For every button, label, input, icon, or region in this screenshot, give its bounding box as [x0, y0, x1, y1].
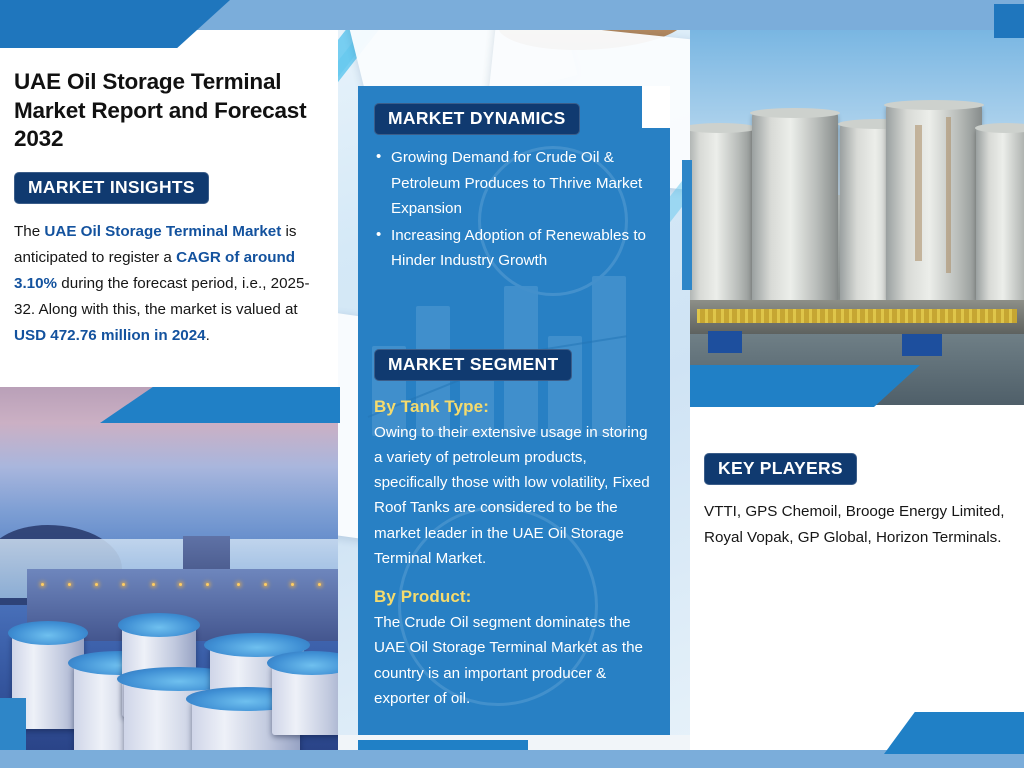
photo-rust-streak [946, 117, 951, 273]
key-players-text: VTTI, GPS Chemoil, Brooge Energy Limited… [704, 499, 1010, 551]
insight-highlight-3: USD 472.76 million in 2024 [14, 327, 206, 344]
market-segment-badge: MARKET SEGMENT [374, 349, 572, 381]
panel-content: MARKET DYNAMICS Growing Demand for Crude… [358, 103, 670, 711]
market-insights-badge: MARKET INSIGHTS [14, 172, 209, 204]
panel-corner-notch [642, 86, 670, 128]
segment-body: The Crude Oil segment dominates the UAE … [374, 610, 654, 711]
top-right-accent-square [994, 4, 1024, 38]
photo-container [902, 334, 942, 356]
insight-highlight-1: UAE Oil Storage Terminal Market [44, 223, 281, 240]
photo-tank [886, 105, 982, 300]
bottom-left-accent-square [0, 698, 26, 750]
infographic-stage: KEY PLAYERS VTTI, GPS Chemoil, Brooge En… [0, 0, 1024, 768]
market-insights-badge-wrap: MARKET INSIGHTS [14, 172, 324, 204]
bottom-accent-band [0, 750, 1024, 768]
segment-body: Owing to their extensive usage in storin… [374, 420, 654, 571]
segment-group-tank-type: By Tank Type: Owing to their extensive u… [374, 397, 654, 571]
market-dynamics-bullet: Growing Demand for Crude Oil & Petroleum… [374, 145, 654, 222]
panel-spacer [374, 275, 654, 349]
insight-part-4: . [206, 327, 210, 344]
market-segment-badge-wrap: MARKET SEGMENT [374, 349, 654, 381]
photo-tank [690, 128, 756, 301]
market-dynamics-list: Growing Demand for Crude Oil & Petroleum… [374, 145, 654, 274]
photo-tank [752, 113, 838, 301]
right-accent-tab [682, 160, 692, 290]
photo-railing [697, 309, 1018, 323]
key-players-badge: KEY PLAYERS [704, 453, 857, 485]
photo-tank [976, 128, 1024, 301]
photo-city-lights [0, 583, 338, 612]
market-insights-text: The UAE Oil Storage Terminal Market is a… [14, 219, 324, 350]
insight-part-3: during the forecast period, i.e., 2025-3… [14, 275, 310, 318]
key-players-badge-wrap: KEY PLAYERS [704, 453, 1010, 485]
photo-tank [272, 663, 338, 735]
key-players-card: KEY PLAYERS VTTI, GPS Chemoil, Brooge En… [690, 405, 1024, 750]
segment-heading: By Product: [374, 587, 654, 607]
segment-heading: By Tank Type: [374, 397, 654, 417]
photo-container [708, 331, 742, 353]
left-photo-terminal-twilight [0, 387, 338, 750]
market-dynamics-bullet: Increasing Adoption of Renewables to Hin… [374, 223, 654, 274]
photo-rust-streak [915, 125, 922, 262]
right-photo-tank-farm [690, 30, 1024, 405]
market-insights-card: UAE Oil Storage Terminal Market Report a… [0, 30, 338, 387]
segment-group-product: By Product: The Crude Oil segment domina… [374, 587, 654, 711]
market-dynamics-badge-wrap: MARKET DYNAMICS [374, 103, 654, 135]
insight-part-1: The [14, 223, 44, 240]
market-dynamics-badge: MARKET DYNAMICS [374, 103, 580, 135]
center-content-panel: MARKET DYNAMICS Growing Demand for Crude… [358, 86, 670, 735]
report-title: UAE Oil Storage Terminal Market Report a… [14, 68, 324, 154]
